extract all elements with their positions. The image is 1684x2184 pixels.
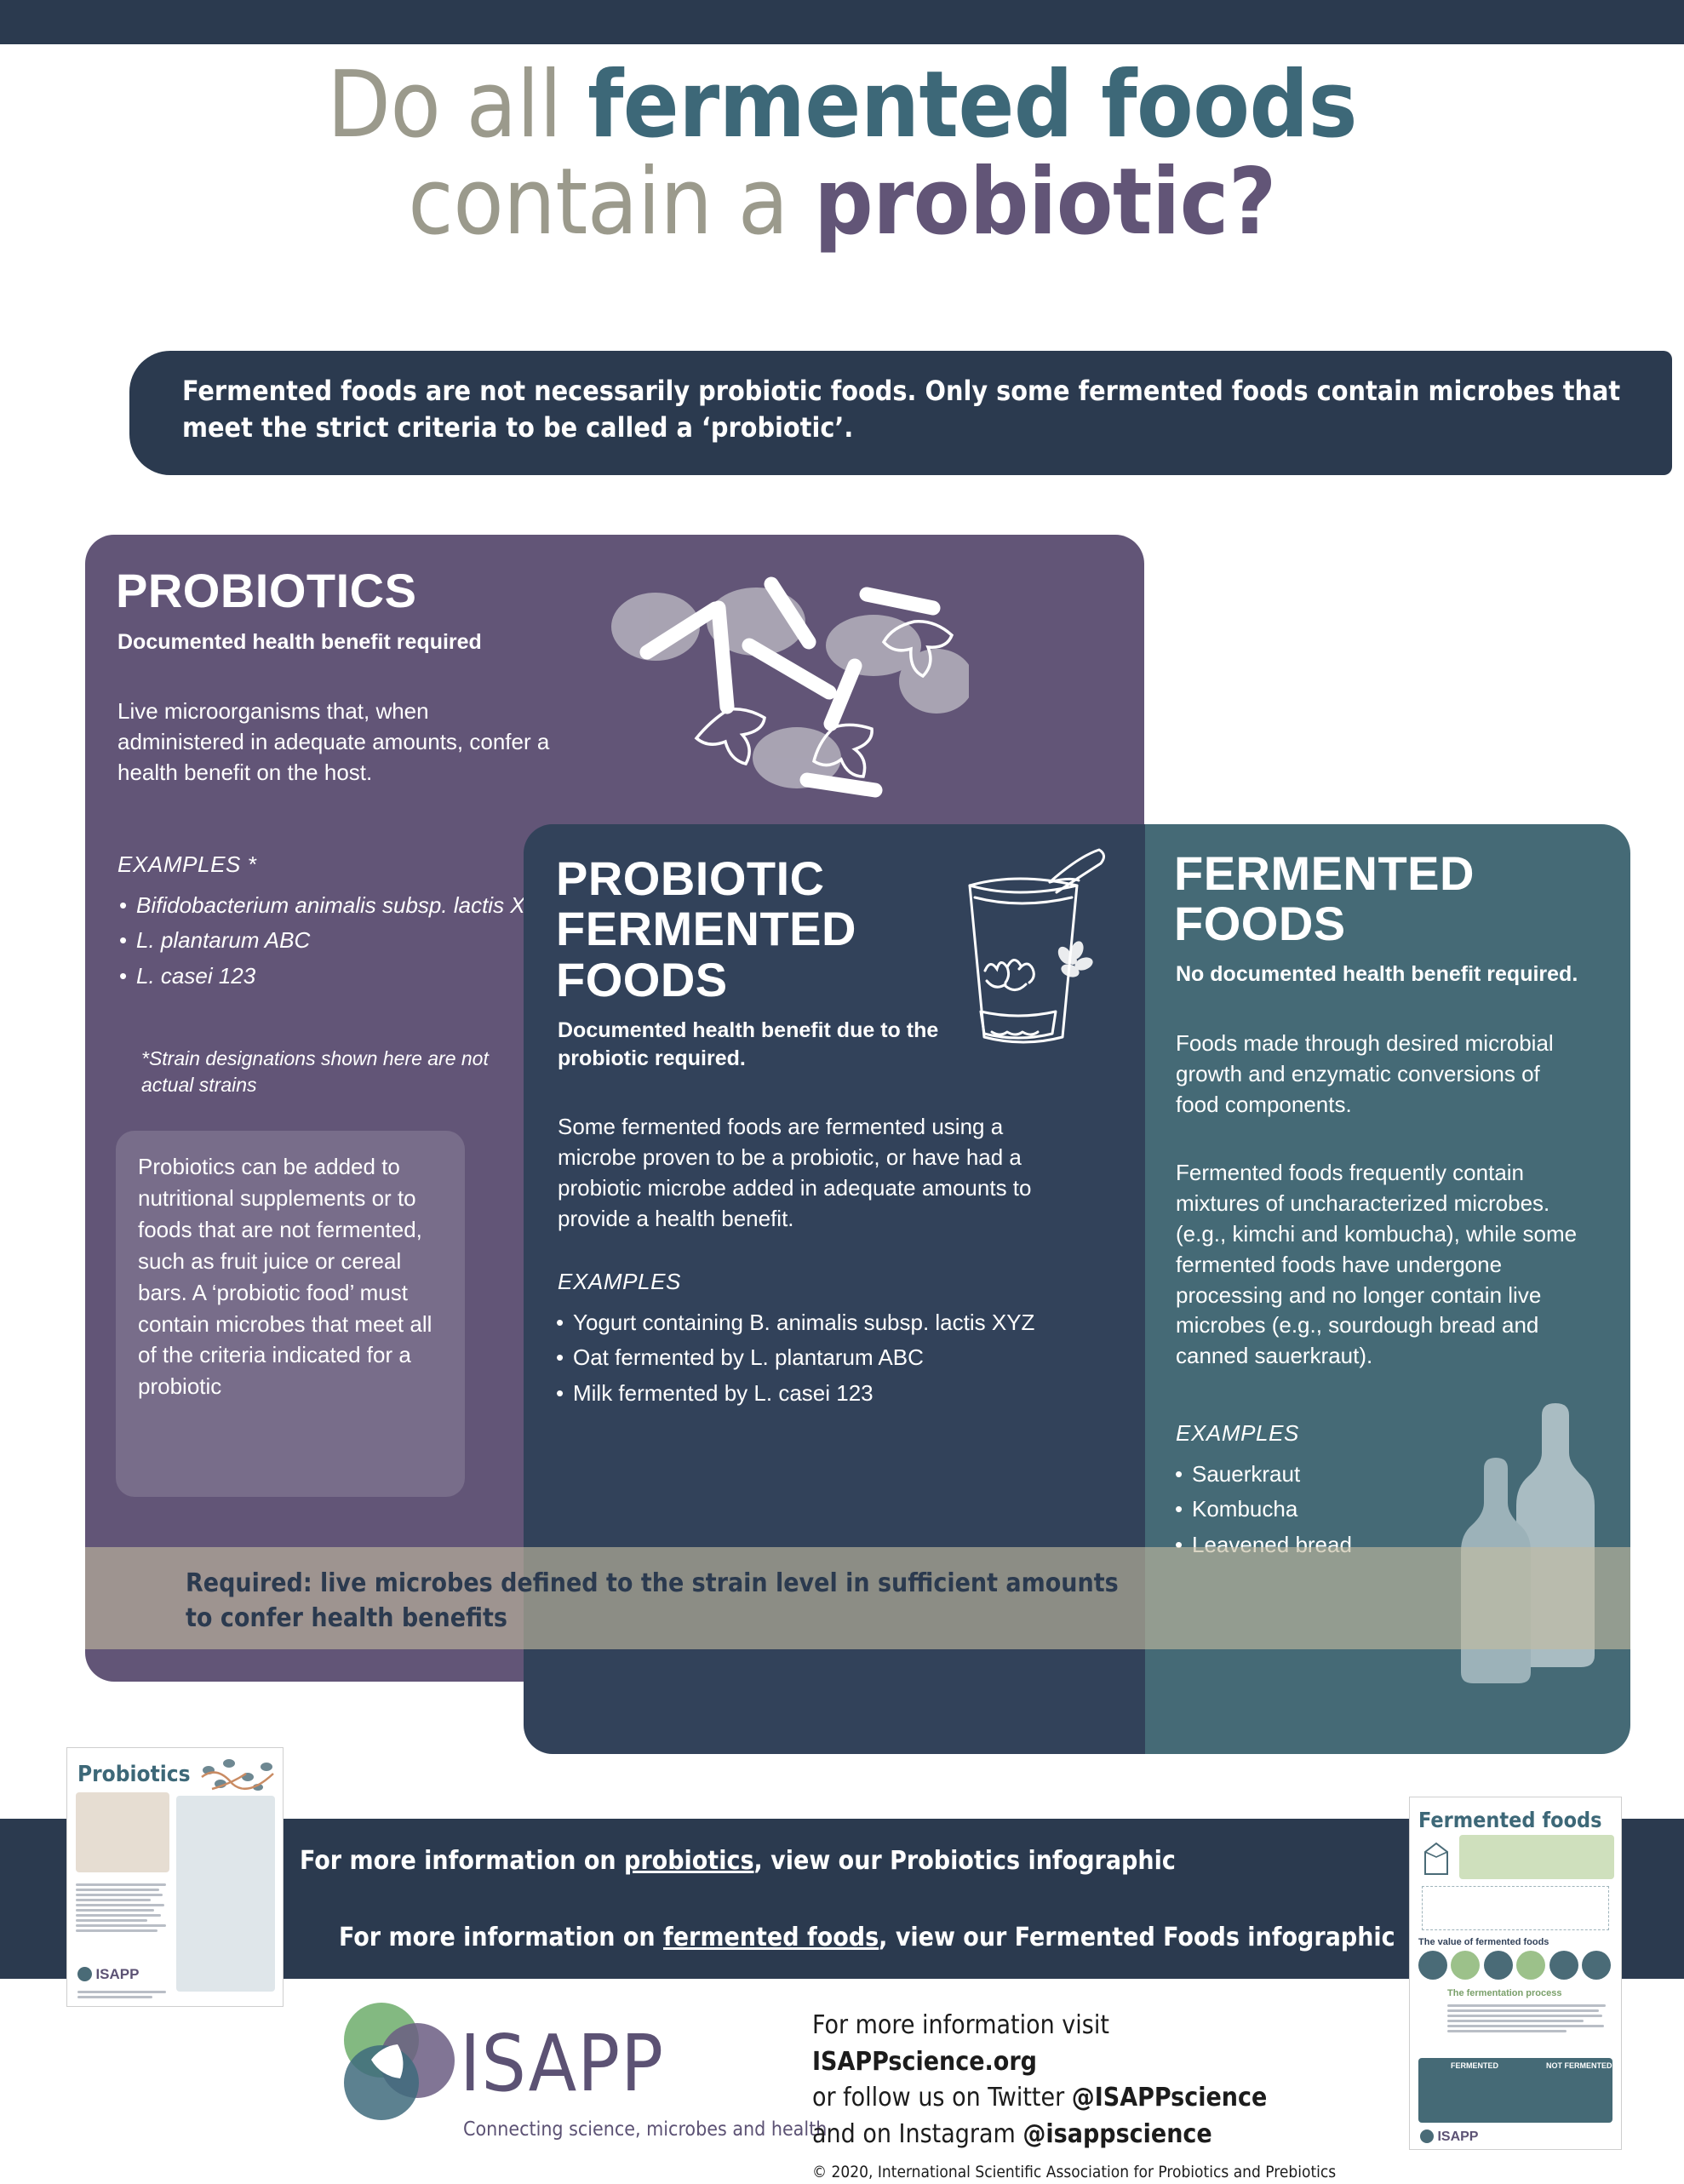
panel-divider: [1144, 535, 1146, 824]
heading-line-2: FOODS: [1174, 897, 1346, 950]
heading-line-2: FERMENTED: [556, 902, 856, 955]
link-anchor[interactable]: probiotics: [624, 1846, 754, 1876]
thumbnail-block-what-are: [1459, 1835, 1614, 1879]
thumbnail-block-comparison: FERMENTED NOT FERMENTED: [1418, 2058, 1612, 2123]
isapp-twitter-line: or follow us on Twitter @ISAPPscience: [812, 2080, 1340, 2117]
list-item: Kombucha: [1173, 1494, 1514, 1524]
pff-examples-list: Yogurt containing B. animalis subsp. lac…: [554, 1303, 1108, 1408]
list-item: Sauerkraut: [1173, 1459, 1514, 1489]
heading-line-1: FERMENTED: [1174, 846, 1475, 900]
probiotics-examples-list: Bifidobacterium animalis subsp. lactis X…: [117, 886, 560, 991]
thumbnail-label-fermented: FERMENTED: [1451, 2061, 1498, 2070]
link-anchor[interactable]: fermented foods: [663, 1923, 879, 1952]
pff-heading: PROBIOTIC FERMENTED FOODS: [556, 853, 856, 1005]
thumbnail-footer-lines: [77, 1988, 171, 2001]
fermented-foods-heading: FERMENTED FOODS: [1174, 848, 1475, 949]
thumbnail-isapp-wordmark: ISAPP: [95, 1966, 139, 1982]
isapp-venn-logo-icon: [334, 1999, 461, 2127]
fermented-foods-paragraph-1: Foods made through desired microbial gro…: [1176, 1029, 1576, 1121]
isapp-instagram-line: and on Instagram @isappscience: [812, 2117, 1340, 2153]
isapp-twitter-handle[interactable]: @ISAPPscience: [1072, 2083, 1268, 2112]
thumbnail-title: Probiotics: [77, 1762, 191, 1787]
isapp-contact-info: For more information visit ISAPPscience.…: [812, 2008, 1340, 2184]
thumbnail-title: Fermented foods: [1418, 1808, 1602, 1832]
isapp-website[interactable]: ISAPPscience.org: [812, 2047, 1037, 2077]
title-line1-accent: fermented foods: [587, 52, 1357, 158]
thumbnail-isapp-wordmark: ISAPP: [1437, 2130, 1478, 2144]
heading-line-3: FOODS: [556, 953, 728, 1006]
probiotics-footnote: *Strain designations shown here are not …: [141, 1046, 499, 1098]
intro-banner-text: Fermented foods are not necessarily prob…: [182, 373, 1621, 446]
required-criteria-bar: Required: live microbes defined to the s…: [85, 1547, 1630, 1649]
thumbnail-circle-row: [1418, 1951, 1611, 1984]
probiotics-callout-text: Probiotics can be added to nutritional s…: [138, 1151, 443, 1402]
pff-examples-label: EXAMPLES: [558, 1269, 681, 1295]
link-suffix: , view our Probiotics infographic: [754, 1846, 1176, 1876]
fermented-foods-examples-label: EXAMPLES: [1176, 1420, 1299, 1447]
thumbnail-block-what-are: [76, 1792, 169, 1872]
thumbnail-text-lines: [76, 1881, 171, 1935]
probiotics-callout-box: Probiotics can be added to nutritional s…: [116, 1131, 465, 1497]
thumbnail-probiotics-infographic[interactable]: Probiotics ISAPP: [66, 1747, 284, 2007]
page-title: Do all fermented foods contain a probiot…: [0, 60, 1684, 249]
isapp-tagline: Connecting science, microbes and health: [463, 2118, 827, 2141]
title-line2-accent: probiotic?: [814, 149, 1276, 255]
link-fermented-foods-infographic[interactable]: For more information on fermented foods,…: [339, 1923, 1395, 1952]
probiotics-subheading: Documented health benefit required: [117, 628, 482, 656]
intro-banner: Fermented foods are not necessarily prob…: [129, 351, 1672, 475]
list-item: Bifidobacterium animalis subsp. lactis X…: [117, 891, 560, 920]
link-suffix: , view our Fermented Foods infographic: [879, 1923, 1395, 1952]
probiotics-definition: Live microorganisms that, when administe…: [117, 696, 560, 788]
thumbnail-block-yogurt-note: [1422, 1886, 1609, 1930]
pff-body: Some fermented foods are fermented using…: [558, 1112, 1085, 1235]
fermented-foods-examples-list: Sauerkraut Kombucha Leavened bread: [1173, 1454, 1514, 1560]
thumbnail-subtitle-value: The value of fermented foods: [1418, 1937, 1549, 1947]
isapp-wordmark: ISAPP: [460, 2018, 664, 2109]
copyright-notice: © 2020, International Scientific Associa…: [812, 2161, 1340, 2184]
thumbnail-text-lines: [1447, 2002, 1609, 2035]
link-probiotics-infographic[interactable]: For more information on probiotics, view…: [300, 1846, 1176, 1876]
heading-line-1: PROBIOTIC: [556, 851, 825, 905]
thumbnail-isapp-logo: ISAPP: [1420, 2130, 1478, 2147]
top-accent-bar: [0, 0, 1684, 44]
fermented-foods-paragraph-2: Fermented foods frequently contain mixtu…: [1176, 1158, 1584, 1372]
isapp-website-line: For more information visit ISAPPscience.…: [812, 2008, 1340, 2080]
list-item: Milk fermented by L. casei 123: [554, 1379, 1108, 1408]
link-prefix: For more information on: [300, 1846, 624, 1876]
thumbnail-subtitle-process: The fermentation process: [1447, 1988, 1561, 1998]
bacteria-illustration: [603, 560, 969, 816]
list-item: Oat fermented by L. plantarum ABC: [554, 1343, 1108, 1373]
list-item: Yogurt containing B. animalis subsp. lac…: [554, 1308, 1108, 1338]
list-item: L. plantarum ABC: [117, 926, 560, 955]
thumbnail-fermented-foods-infographic[interactable]: Fermented foods The value of fermented f…: [1409, 1797, 1622, 2150]
title-line2-plain: contain a: [408, 149, 814, 255]
isapp-footer: ISAPP Connecting science, microbes and h…: [334, 1999, 1338, 2161]
thumbnail-isapp-logo: ISAPP: [77, 1966, 139, 1986]
required-criteria-text: Required: live microbes defined to the s…: [186, 1566, 1122, 1637]
pff-subheading: Documented health benefit due to the pro…: [558, 1017, 983, 1072]
fermented-foods-subheading: No documented health benefit required.: [1176, 960, 1584, 989]
probiotics-heading: PROBIOTICS: [116, 565, 416, 616]
thumbnail-label-not-fermented: NOT FERMENTED: [1546, 2061, 1612, 2070]
list-item: L. casei 123: [117, 961, 560, 991]
probiotics-examples-label: EXAMPLES *: [117, 851, 257, 878]
isapp-instagram-handle[interactable]: @isappscience: [1022, 2119, 1211, 2149]
title-line1-plain: Do all: [327, 52, 587, 158]
microbes-icon: [195, 1755, 280, 1794]
link-prefix: For more information on: [339, 1923, 663, 1952]
thumbnail-block-choosing: [176, 1796, 275, 1992]
milk-carton-icon: [1420, 1838, 1452, 1877]
